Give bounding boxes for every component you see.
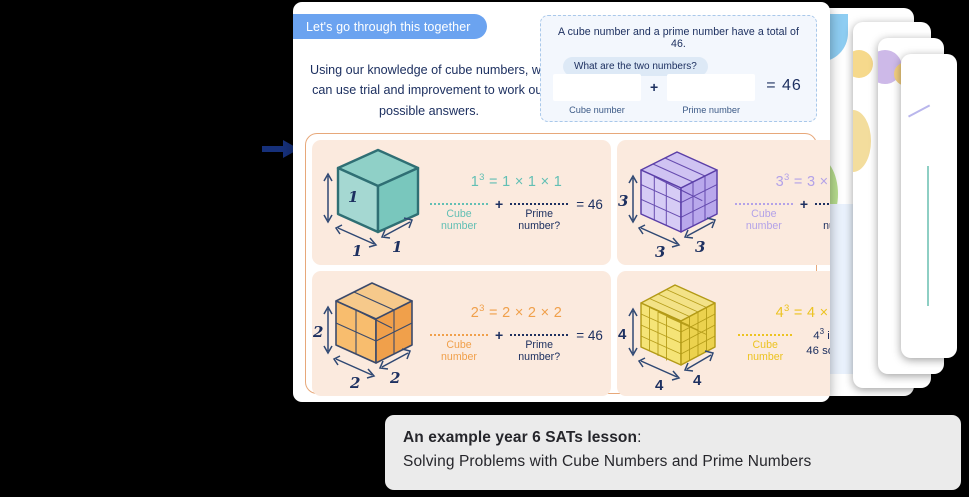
cube-card-1-plus: + (495, 196, 503, 212)
cube-cards-grid: 1 1 1 13 = 1 × 1 × 1 Cube number + (312, 140, 810, 387)
cube-card-2-answer-line: Cube number + Prime number? = 46 (430, 325, 603, 363)
cube-card-3-cube-dots (735, 203, 793, 205)
cube-card-2-cube-blank[interactable]: Cube number (430, 325, 488, 363)
cube-4-dim-depth: 4 (693, 372, 702, 389)
cube-card-1-prime-blank[interactable]: Prime number? (510, 194, 568, 232)
cube-2-dim-height: 2 (312, 323, 323, 341)
cube-svg-3: 3 3 3 (617, 140, 735, 260)
caption-panel: An example year 6 SATs lesson: Solving P… (385, 415, 961, 490)
cube-card-3-plus: + (800, 196, 808, 212)
caption-line-1-bold: An example year 6 SATs lesson (403, 429, 637, 446)
question-answer-row: Cube number + Prime number = 46 (553, 74, 804, 115)
cube-card-4[interactable]: 4 4 4 43 = 4 × 4 × 4 Cube number 43 (617, 271, 830, 396)
question-equals-total: = 46 (766, 77, 802, 95)
cube-1-dim-width: 1 (352, 242, 362, 260)
cube-card-3-prime-dots (815, 203, 830, 205)
cube-card-3-cube-blank[interactable]: Cube number (735, 194, 793, 232)
accent-stroke-teal (927, 166, 929, 306)
question-statement: A cube number and a prime number have a … (553, 26, 804, 50)
cube-diagram-1: 1 1 1 (312, 140, 430, 265)
slide-badge-label: Let's go through this together (306, 20, 471, 34)
cube-card-1-answer-line: Cube number + Prime number? = 46 (430, 194, 603, 232)
cube-card-3-content: 33 = 3 × 3 × 3 Cube number + Prime numbe… (735, 172, 830, 232)
prime-number-input[interactable] (667, 74, 755, 101)
cube-4-dim-height: 4 (618, 326, 627, 343)
cube-card-1-prime-label: Prime number? (510, 208, 568, 232)
accent-stroke-lavender (908, 104, 930, 117)
cube-2-dim-depth: 2 (389, 369, 400, 387)
cube-card-2-formula: 23 = 2 × 2 × 2 (430, 303, 603, 321)
cube-2-dim-width: 2 (349, 374, 360, 391)
cube-card-2-cube-dots (430, 334, 488, 336)
cube-card-1[interactable]: 1 1 1 13 = 1 × 1 × 1 Cube number + (312, 140, 611, 265)
cube-card-3-prime-label: Prime number? (815, 208, 830, 232)
cube-number-input-caption: Cube number (569, 105, 625, 115)
cube-card-3-formula: 33 = 3 × 3 × 3 (735, 172, 830, 190)
cube-1-dim-depth: 1 (392, 238, 402, 256)
cube-cards-frame: 1 1 1 13 = 1 × 1 × 1 Cube number + (305, 133, 817, 394)
cube-number-input[interactable] (553, 74, 641, 101)
cube-card-4-content: 43 = 4 × 4 × 4 Cube number 43 is greater… (735, 303, 830, 363)
cube-card-1-cube-blank[interactable]: Cube number (430, 194, 488, 232)
cube-diagram-2: 2 2 2 (312, 271, 430, 396)
cube-answer-field-group: Cube number (553, 74, 641, 115)
screenshot-root: Let's go through this together Using our… (0, 0, 969, 497)
cube-card-2-prime-blank[interactable]: Prime number? (510, 325, 568, 363)
cube-card-3[interactable]: 3 3 3 33 = 3 × 3 × 3 Cube number + (617, 140, 830, 265)
caption-line-2: Solving Problems with Cube Numbers and P… (403, 453, 943, 471)
cube-card-2-prime-label: Prime number? (510, 339, 568, 363)
cube-card-4-cube-blank[interactable]: Cube number (735, 325, 796, 363)
cube-card-4-answer-line: Cube number 43 is greater than 46 so thi… (735, 325, 830, 363)
cube-svg-4: 4 4 4 (617, 271, 735, 391)
prime-answer-field-group: Prime number (667, 74, 755, 115)
cube-card-3-prime-blank[interactable]: Prime number? (815, 194, 830, 232)
cube-card-1-content: 13 = 1 × 1 × 1 Cube number + Prime numbe… (430, 172, 611, 232)
cube-card-1-cube-dots (430, 203, 488, 205)
cube-card-1-cube-label: Cube number (430, 208, 488, 232)
cube-card-4-note: 43 is greater than 46 so this is too big… (806, 327, 830, 358)
cube-card-3-answer-line: Cube number + Prime number? = 46 (735, 194, 830, 232)
cube-1-dim-height: 1 (348, 188, 358, 206)
cube-diagram-3: 3 3 3 (617, 140, 735, 265)
cube-card-4-cube-dots (738, 334, 792, 336)
question-plus-symbol: + (650, 79, 658, 95)
cube-card-2-prime-dots (510, 334, 568, 336)
decorative-blob-yellow (853, 50, 873, 78)
decorative-blob-yellow-2 (853, 110, 871, 172)
cube-3-dim-width: 3 (655, 243, 665, 260)
cube-card-3-cube-label: Cube number (735, 208, 793, 232)
stack-page-4[interactable] (901, 54, 957, 358)
cube-card-1-prime-dots (510, 203, 568, 205)
cube-card-2-cube-label: Cube number (430, 339, 488, 363)
cube-3-dim-height: 3 (618, 192, 628, 210)
question-panel: A cube number and a prime number have a … (540, 15, 817, 122)
cube-card-1-formula: 13 = 1 × 1 × 1 (430, 172, 603, 190)
intro-paragraph: Using our knowledge of cube numbers, we … (305, 60, 553, 121)
lesson-slide[interactable]: Let's go through this together Using our… (293, 2, 830, 402)
cube-card-1-equals: = 46 (576, 197, 603, 212)
cube-card-4-formula: 43 = 4 × 4 × 4 (735, 303, 830, 321)
cube-diagram-4: 4 4 4 (617, 271, 735, 396)
slide-badge: Let's go through this together (293, 14, 487, 39)
cube-card-4-cube-label: Cube number (735, 339, 796, 363)
cube-card-2-content: 23 = 2 × 2 × 2 Cube number + Prime numbe… (430, 303, 611, 363)
cube-card-2-plus: + (495, 327, 503, 343)
prime-number-input-caption: Prime number (682, 105, 740, 115)
caption-line-1-colon: : (637, 429, 641, 446)
cube-svg-1: 1 1 1 (312, 140, 430, 260)
cube-card-2[interactable]: 2 2 2 23 = 2 × 2 × 2 Cube number + (312, 271, 611, 396)
cube-card-2-equals: = 46 (576, 328, 603, 343)
caption-line-1: An example year 6 SATs lesson: (403, 429, 943, 447)
cube-svg-2: 2 2 2 (312, 271, 430, 391)
cube-4-dim-width: 4 (655, 377, 664, 391)
cube-3-dim-depth: 3 (695, 238, 705, 256)
